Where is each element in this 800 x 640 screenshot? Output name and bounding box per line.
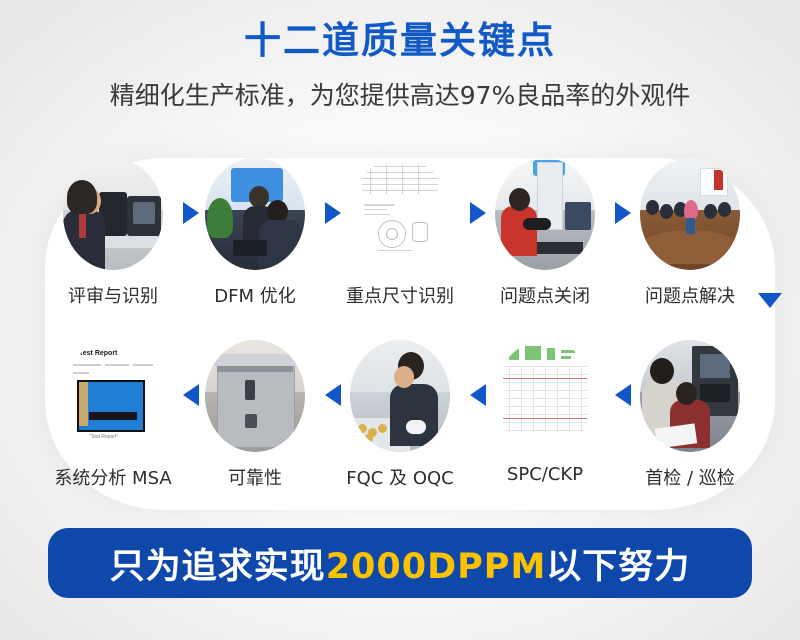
- flow-step-label: 可靠性: [195, 464, 315, 490]
- team-reviewing-design-photo: [205, 158, 305, 270]
- flow-step-first-patrol-inspection[interactable]: 首检 / 巡检: [630, 340, 750, 490]
- flow-step-label: 首检 / 巡检: [630, 464, 750, 490]
- final-quality-inspector-photo: [350, 340, 450, 452]
- flow-step-label: 问题点解决: [630, 282, 750, 308]
- flow-step-label: 评审与识别: [53, 282, 173, 308]
- down-arrow-icon: [758, 293, 782, 308]
- first-article-inspection-photo: [640, 340, 740, 452]
- arrow-left-icon: [615, 384, 631, 406]
- arrow-left-icon: [470, 384, 486, 406]
- spc-control-chart-photo: [495, 340, 595, 452]
- page-root: 十二道质量关键点 精细化生产标准，为您提供高达97%良品率的外观件 评审与识别: [0, 0, 800, 640]
- slogan-highlight: 2000DPPM: [326, 547, 547, 587]
- flow-step-label: 系统分析 MSA: [53, 464, 173, 490]
- reliability-test-chamber-photo: [205, 340, 305, 452]
- flow-step-review-identify[interactable]: 评审与识别: [53, 158, 173, 308]
- flow-step-label: 重点尺寸识别: [340, 282, 460, 308]
- flow-step-fqc-oqc[interactable]: FQC 及 OQC: [340, 340, 460, 490]
- technical-drawing-photo: [350, 158, 450, 270]
- arrow-left-icon: [325, 384, 341, 406]
- flow-step-reliability[interactable]: 可靠性: [195, 340, 315, 490]
- flow-step-issue-resolved[interactable]: 问题点解决: [630, 158, 750, 308]
- meeting-room-discussion-photo: [640, 158, 740, 270]
- arrow-right-icon: [615, 202, 631, 224]
- flow-step-label: DFM 优化: [195, 282, 315, 308]
- flow-step-msa-analysis[interactable]: Test Report "Test Report" 系统分析 MSA: [53, 340, 173, 490]
- arrow-right-icon: [325, 202, 341, 224]
- flow-row-top: 评审与识别 DFM 优化: [0, 158, 800, 318]
- slogan-text: 只为追求实现2000DPPM以下努力: [110, 538, 691, 589]
- flow-step-label: SPC/CKP: [485, 464, 605, 485]
- bottom-slogan-banner: 只为追求实现2000DPPM以下努力: [48, 528, 752, 598]
- arrow-right-icon: [470, 202, 486, 224]
- page-subtitle: 精细化生产标准，为您提供高达97%良品率的外观件: [0, 76, 800, 112]
- page-title: 十二道质量关键点: [0, 18, 800, 64]
- slogan-prefix: 只为追求实现: [110, 547, 326, 587]
- test-report-document-photo: Test Report "Test Report": [63, 340, 163, 452]
- header: 十二道质量关键点 精细化生产标准，为您提供高达97%良品率的外观件: [0, 18, 800, 112]
- flow-step-label: 问题点关闭: [485, 282, 605, 308]
- slogan-suffix: 以下努力: [546, 547, 690, 587]
- flow-row-bottom: Test Report "Test Report" 系统分析 MSA: [0, 340, 800, 500]
- flow-step-spc-ckp[interactable]: SPC/CKP: [485, 340, 605, 485]
- flow-step-key-dimension[interactable]: 重点尺寸识别: [340, 158, 460, 308]
- cmm-measuring-machine-photo: [495, 158, 595, 270]
- flow-step-issue-closed[interactable]: 问题点关闭: [485, 158, 605, 308]
- flow-step-dfm-optimization[interactable]: DFM 优化: [195, 158, 315, 308]
- engineer-at-desk-photo: [63, 158, 163, 270]
- flow-step-label: FQC 及 OQC: [340, 464, 460, 490]
